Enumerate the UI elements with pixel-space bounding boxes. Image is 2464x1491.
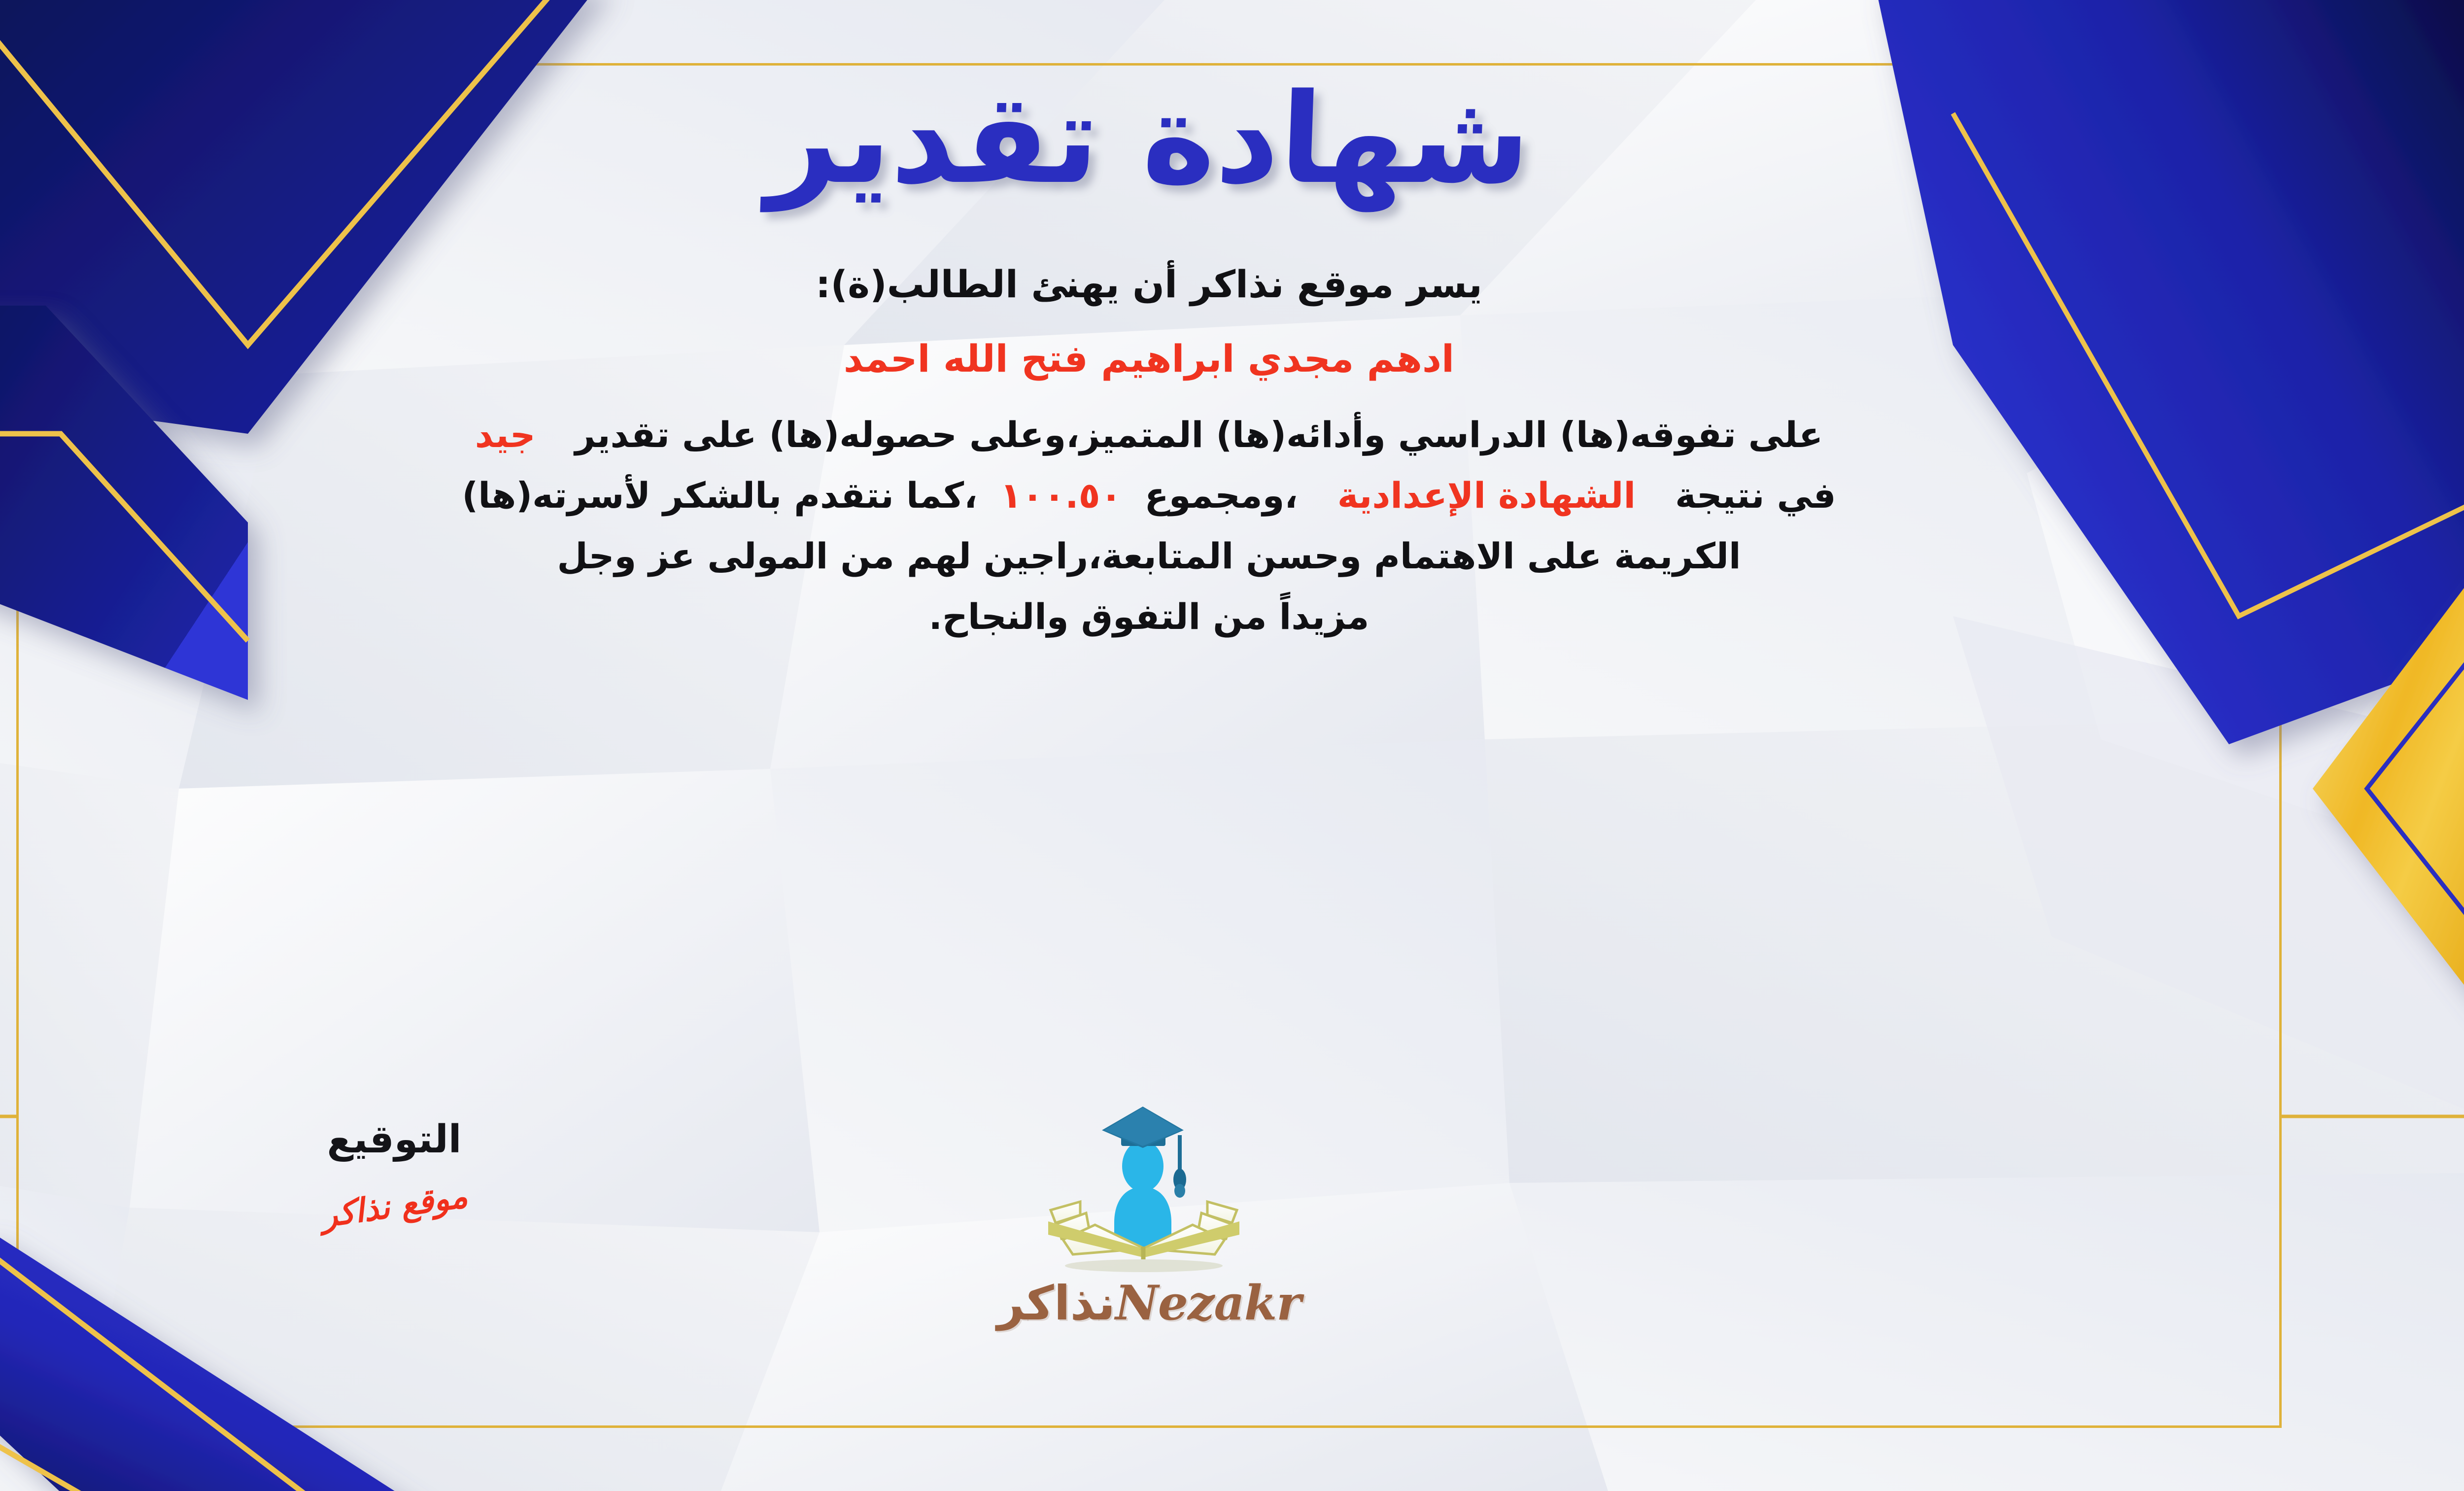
student-name: ادهم مجدي ابراهيم فتح الله احمد [50, 332, 2248, 386]
result-prefix: في نتيجة [1675, 475, 1836, 516]
brand-name-arabic: نذاكر [997, 1276, 1115, 1331]
certificate-footer: التوقيع موقع نذاكر [0, 1120, 2464, 1396]
wishes-line: مزيداً من التفوق والنجاح. [50, 591, 2248, 643]
congratulation-line: يسر موقع نذاكر أن يهنئ الطالب(ة): [50, 257, 2248, 312]
grade-value: جيد [475, 414, 536, 455]
total-label: ،ومجموع [1145, 475, 1298, 516]
brand-name: Nezakrنذاكر [997, 1275, 1301, 1331]
graduate-on-book-icon [1021, 1101, 1277, 1278]
certificate-title: شهادة تقدير [765, 77, 1532, 202]
result-line: في نتيجةالشهادة الإعدادية،ومجموع١٠٠.٥٠،ك… [50, 470, 2248, 521]
achievement-line: على تفوقه(ها) الدراسي وأدائه(ها) المتميز… [50, 409, 2248, 461]
title-area: شهادة تقدير [0, 58, 2464, 221]
certificate-text: يسر موقع نذاكر أن يهنئ الطالب(ة): ادهم م… [50, 257, 2248, 643]
brand-logo: Nezakrنذاكر [0, 1101, 2464, 1331]
thanks-line: الكريمة على الاهتمام وحسن المتابعة،راجين… [50, 530, 2248, 582]
exam-name: الشهادة الإعدادية [1337, 475, 1636, 516]
brand-name-latin: Nezakr [1115, 1275, 1301, 1331]
total-score: ١٠٠.٥٠ [1000, 475, 1122, 516]
thanks-prefix: ،كما نتقدم بالشكر لأسرته(ها) [462, 475, 977, 516]
achievement-text: على تفوقه(ها) الدراسي وأدائه(ها) المتميز… [575, 414, 1823, 455]
